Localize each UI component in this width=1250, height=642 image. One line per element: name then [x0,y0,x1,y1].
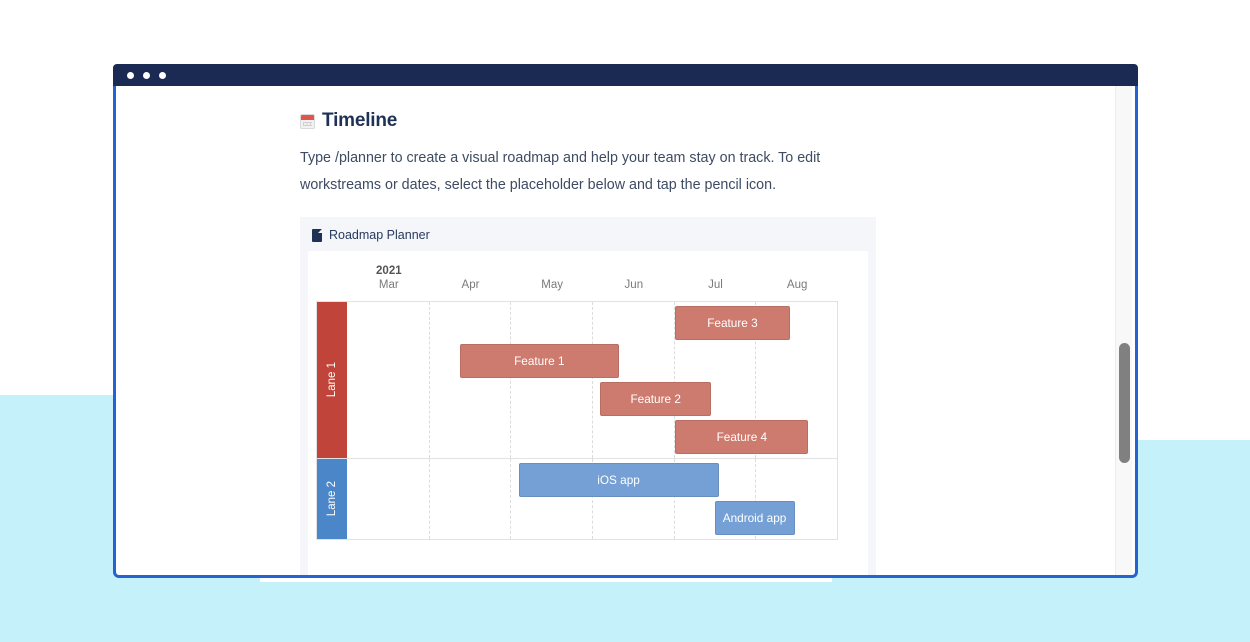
window-body: Timeline Type /planner to create a visua… [113,86,1138,578]
window-dot-minimize[interactable] [143,72,150,79]
gridline-may [510,459,511,539]
gantt-lane-1: Lane 1Feature 3Feature 1Feature 2Feature… [317,302,837,458]
gantt-chart: Mar2021AprMayJunJulAug Lane 1Feature 3Fe… [316,265,844,540]
scrollbar-track[interactable] [1115,86,1132,575]
gantt-lane-label-2[interactable]: Lane 2 [317,459,347,539]
gridline-jun [592,302,593,458]
gantt-bar-label: iOS app [597,473,640,487]
page-title-text: Timeline [322,110,397,132]
gridline-may [510,302,511,458]
browser-window: Timeline Type /planner to create a visua… [113,64,1138,581]
gantt-bar-label: Feature 4 [717,430,768,444]
axis-month-apr: Apr [462,279,480,291]
gantt-lane-track-2: iOS appAndroid app [347,459,837,539]
page-body-text: Type /planner to create a visual roadmap… [300,145,900,199]
gantt-bar[interactable]: iOS app [519,463,719,497]
gantt-bar-label: Feature 3 [707,316,758,330]
axis-year-label: 2021 [376,265,402,277]
page-content: Timeline Type /planner to create a visua… [116,86,1115,575]
axis-month-jul: Jul [708,279,723,291]
axis-month-may: May [541,279,563,291]
axis-month-jun: Jun [625,279,644,291]
gantt-bar[interactable]: Feature 2 [600,382,711,416]
gridline-apr [429,459,430,539]
gantt-bar[interactable]: Feature 1 [460,344,619,378]
gantt-lane-label-text: Lane 1 [326,362,338,397]
gantt-bar-label: Android app [723,511,787,525]
gantt-bar-label: Feature 2 [630,392,681,406]
gantt-bar[interactable]: Android app [715,501,795,535]
planner-header-label: Roadmap Planner [329,228,430,242]
gantt-bar[interactable]: Feature 3 [675,306,789,340]
axis-month-aug: Aug [787,279,807,291]
axis-month-mar: Mar [379,279,399,291]
roadmap-planner-panel: Roadmap Planner Mar2021AprMayJunJulAug L… [300,217,876,575]
gantt-lane-label-text: Lane 2 [326,481,338,516]
gridline-apr [429,302,430,458]
planner-header: Roadmap Planner [300,217,876,251]
gantt-lane-2: Lane 2iOS appAndroid app [317,458,837,539]
page-title: Timeline [300,110,908,132]
window-dot-maximize[interactable] [159,72,166,79]
scrollbar-thumb[interactable] [1119,343,1130,463]
gantt-lane-track-1: Feature 3Feature 1Feature 2Feature 4 [347,302,837,458]
gantt-plot: Lane 1Feature 3Feature 1Feature 2Feature… [316,301,838,540]
gantt-lane-label-1[interactable]: Lane 1 [317,302,347,458]
window-dot-close[interactable] [127,72,134,79]
calendar-icon [300,114,315,129]
gantt-bar-label: Feature 1 [514,354,565,368]
window-titlebar [113,64,1138,86]
gantt-axis: Mar2021AprMayJunJulAug [348,265,838,301]
gantt-bar[interactable]: Feature 4 [675,420,808,454]
planner-chart-card[interactable]: Mar2021AprMayJunJulAug Lane 1Feature 3Fe… [308,251,868,575]
page-icon [312,229,322,242]
